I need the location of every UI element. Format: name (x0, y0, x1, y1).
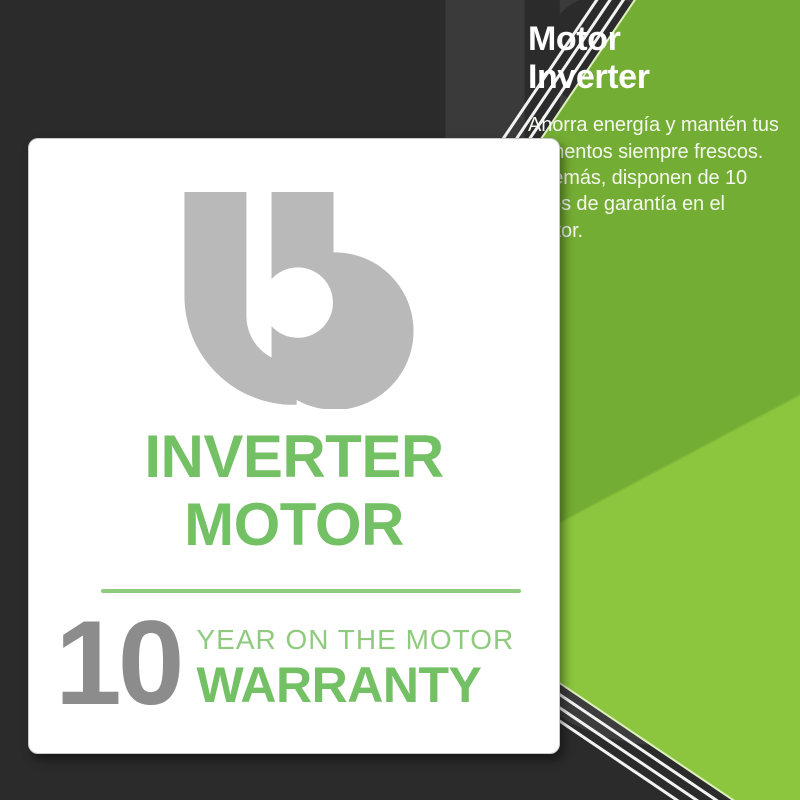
warranty-block: 10 YEAR ON THE MOTOR WARRANTY (55, 607, 559, 720)
warranty-year-line: YEAR ON THE MOTOR (196, 625, 559, 656)
warranty-card: INVERTER MOTOR 10 YEAR ON THE MOTOR WARR… (28, 138, 560, 754)
card-headline: INVERTER MOTOR (29, 423, 559, 559)
warranty-years-number: 10 (55, 607, 180, 720)
promo-banner: Motor Inverter Ahorra energía y mantén t… (0, 0, 800, 800)
brand-logo-icon (169, 187, 421, 409)
warranty-text-group: YEAR ON THE MOTOR WARRANTY (180, 607, 559, 712)
panel-title: Motor Inverter (528, 20, 784, 96)
warranty-word: WARRANTY (196, 658, 559, 712)
panel-copy: Motor Inverter Ahorra energía y mantén t… (528, 20, 784, 244)
card-divider (101, 589, 521, 593)
brand-logo-icon (169, 187, 421, 409)
panel-body-text: Ahorra energía y mantén tus alimentos si… (528, 112, 784, 244)
